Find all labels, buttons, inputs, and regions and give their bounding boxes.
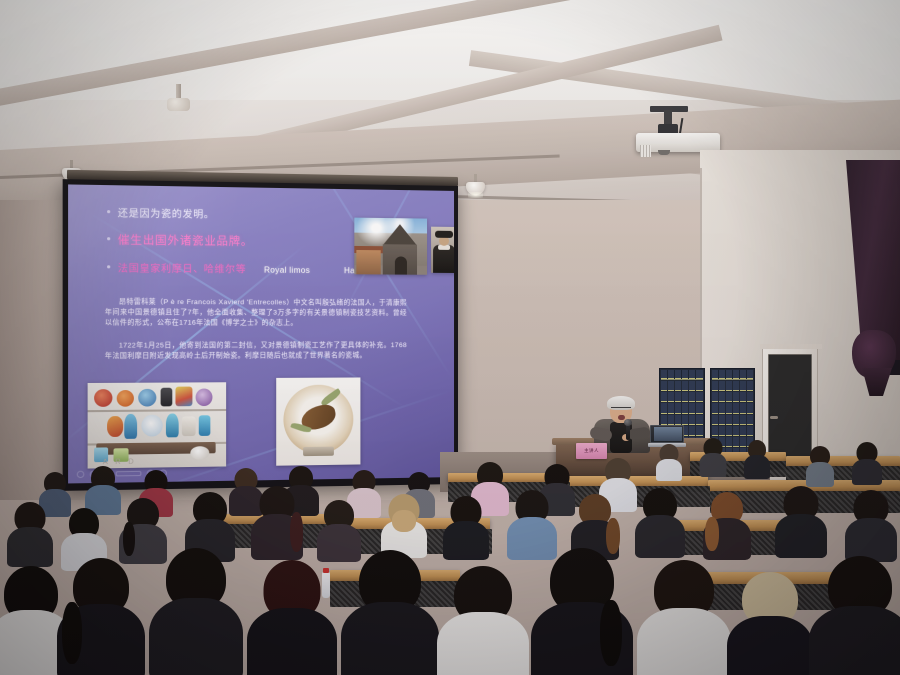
audience-person [730, 572, 810, 675]
microphone-icon [626, 424, 630, 440]
audience-person [806, 446, 834, 484]
bullet-dot-icon [107, 265, 110, 268]
door-handle-icon[interactable] [770, 416, 778, 419]
french-village-church-photo [354, 218, 427, 275]
audience-person [744, 440, 770, 476]
audience-person [152, 548, 240, 675]
decorative-bird-plate-photo [276, 377, 360, 465]
entrecolles-portrait-photo [431, 227, 454, 273]
presentation-slide: 还是因为瓷的发明。 催生出国外诸瓷业品牌。 法国皇家利摩日、哈维尔等 Royal… [68, 184, 454, 483]
slide-bullet-text: 还是因为瓷的发明。 [118, 208, 215, 221]
audience-person [656, 444, 682, 478]
porcelain-shop-display-photo: ARD [88, 382, 227, 468]
audience-person [60, 558, 142, 675]
audience-person [812, 556, 900, 675]
audience-person [382, 494, 426, 556]
audience-person [704, 492, 750, 558]
microphone-head-icon [624, 419, 632, 426]
slide-paragraph-text: 1722年1月25日，他寄到法国的第二封信，又对景德镇制瓷工艺作了更具体的补充。… [105, 342, 407, 360]
lecture-hall-photo: 还是因为瓷的发明。 催生出国外诸瓷业品牌。 法国皇家利摩日、哈维尔等 Royal… [0, 0, 900, 675]
projection-screen: 还是因为瓷的发明。 催生出国外诸瓷业品牌。 法国皇家利摩日、哈维尔等 Royal… [63, 179, 458, 491]
slide-bullet-text: 法国皇家利摩日、哈维尔等 [118, 263, 246, 276]
audience-person [8, 502, 52, 564]
audience-person [86, 466, 120, 512]
screen-frame: 还是因为瓷的发明。 催生出国外诸瓷业品牌。 法国皇家利摩日、哈维尔等 Royal… [63, 179, 458, 491]
audience-person [440, 566, 526, 675]
audience-person [534, 548, 630, 675]
slide-paragraph-text: 昂特雷科莱（P è re Francois Xavierd 'Entrecoll… [105, 299, 407, 328]
audience-person [250, 560, 334, 675]
audience-person [252, 486, 302, 558]
audience-person [852, 442, 882, 482]
slide-paragraph: 昂特雷科莱（P è re Francois Xavierd 'Entrecoll… [105, 298, 407, 330]
audience-person [776, 486, 826, 556]
audience-person [640, 560, 728, 675]
audience-person [636, 488, 684, 556]
bullet-dot-icon [107, 210, 110, 213]
audience-person [444, 496, 488, 558]
audience-person [344, 550, 436, 675]
name-placard-text: 主讲人 [584, 448, 599, 454]
audience-person [700, 438, 726, 474]
bullet-dot-icon [107, 238, 110, 241]
name-placard: 主讲人 [576, 443, 607, 459]
audience-person [846, 490, 896, 560]
brand-label-royal-limoges: Royal limos [264, 265, 310, 275]
eyeglasses-icon [611, 407, 631, 411]
toolbar-icon[interactable] [77, 471, 85, 478]
slide-bullet-text: 催生出国外诸瓷业品牌。 [118, 235, 253, 250]
slide-paragraph: 1722年1月25日，他寄到法国的第二封信，又对景德镇制瓷工艺作了更具体的补充。… [105, 341, 407, 362]
